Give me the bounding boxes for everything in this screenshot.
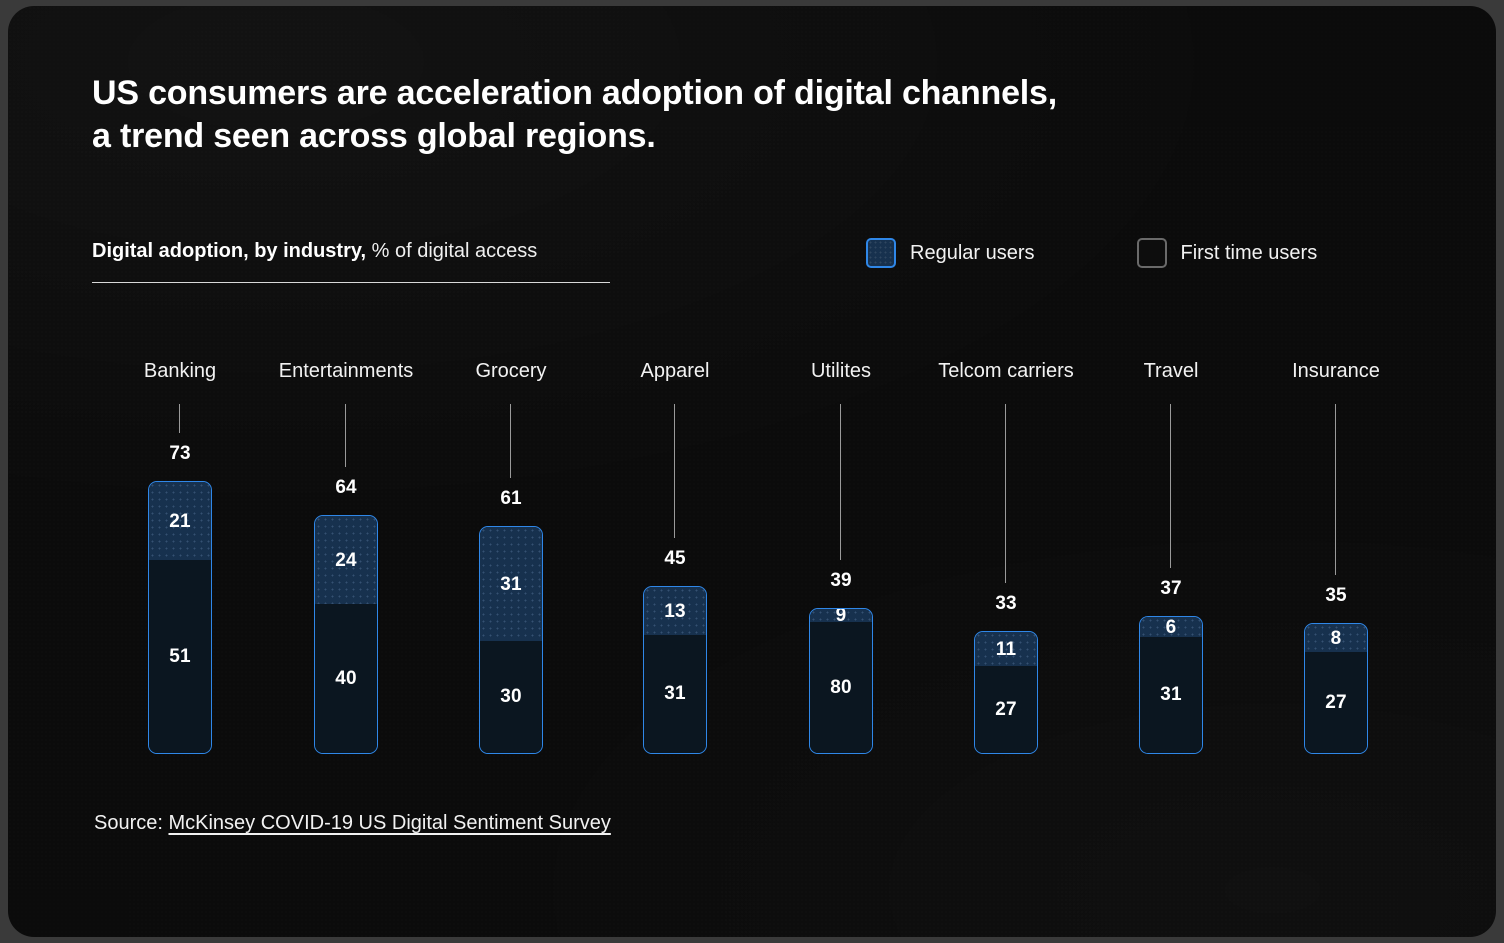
bar-total-label: 45 — [585, 548, 765, 570]
bar-total-label: 33 — [916, 593, 1096, 615]
stacked-bar[interactable]: 2440 — [314, 515, 378, 754]
bar-segment-value: 21 — [169, 511, 191, 533]
bar-segment-regular-users[interactable]: 11 — [975, 632, 1037, 668]
bar-total-label: 64 — [256, 477, 436, 499]
bar-segment-regular-users[interactable]: 6 — [1140, 617, 1202, 639]
legend-label-regular-users: Regular users — [910, 242, 1035, 265]
bar-total-label: 37 — [1081, 578, 1261, 600]
leader-line — [510, 404, 511, 478]
bar-segment-regular-users[interactable]: 13 — [644, 587, 706, 637]
bar-segment-value: 13 — [664, 601, 686, 623]
stacked-bar[interactable]: 631 — [1139, 616, 1203, 754]
bar-segment-regular-users[interactable]: 24 — [315, 516, 377, 606]
bar-total-label: 39 — [751, 570, 931, 592]
bar-segment-value: 27 — [995, 699, 1017, 721]
bar-total-label: 61 — [421, 488, 601, 510]
bar-segment-value: 31 — [500, 574, 522, 596]
bar-segment-value: 40 — [335, 668, 357, 690]
bar-segment-value: 11 — [996, 639, 1017, 661]
bar-segment-first-time-users[interactable]: 40 — [315, 604, 377, 753]
bar-segment-value: 31 — [1160, 684, 1182, 706]
bar-segment-first-time-users[interactable]: 80 — [810, 622, 872, 753]
page-title: US consumers are acceleration adoption o… — [92, 72, 1212, 158]
bar-segment-regular-users[interactable]: 21 — [149, 482, 211, 562]
bar-segment-first-time-users[interactable]: 31 — [1140, 637, 1202, 753]
bar-segment-regular-users[interactable]: 8 — [1305, 624, 1367, 654]
legend-swatch-first-time-icon — [1137, 238, 1167, 268]
stacked-bar[interactable]: 980 — [809, 608, 873, 754]
subtitle-normal: % of digital access — [366, 240, 537, 262]
source-note: Source: McKinsey COVID-19 US Digital Sen… — [94, 812, 611, 835]
source-link[interactable]: McKinsey COVID-19 US Digital Sentiment S… — [168, 812, 610, 834]
bar-segment-first-time-users[interactable]: 31 — [644, 635, 706, 753]
bar-segment-value: 31 — [664, 683, 686, 705]
leader-line — [179, 404, 180, 433]
subtitle-bold: Digital adoption, by industry, — [92, 240, 366, 262]
category-label: Utilites — [751, 360, 931, 383]
category-label: Travel — [1081, 360, 1261, 383]
bar-segment-first-time-users[interactable]: 30 — [480, 641, 542, 753]
bar-segment-value: 80 — [830, 677, 852, 699]
stacked-bar[interactable]: 1127 — [974, 631, 1038, 754]
bar-segment-first-time-users[interactable]: 27 — [1305, 652, 1367, 753]
bar-segment-value: 51 — [169, 646, 191, 668]
bar-segment-value: 24 — [335, 550, 357, 572]
legend-item-first-time-users[interactable]: First time users — [1137, 238, 1318, 268]
legend-item-regular-users[interactable]: Regular users — [866, 238, 1035, 268]
leader-line — [345, 404, 346, 467]
category-label: Telcom carriers — [916, 360, 1096, 383]
bar-segment-value: 30 — [500, 686, 522, 708]
stacked-bar[interactable]: 1331 — [643, 586, 707, 754]
bar-segment-value: 6 — [1166, 617, 1177, 639]
stacked-bar[interactable]: 827 — [1304, 623, 1368, 754]
bar-segment-first-time-users[interactable]: 27 — [975, 666, 1037, 753]
leader-line — [1170, 404, 1171, 568]
leader-line — [674, 404, 675, 538]
bar-segment-value: 27 — [1325, 692, 1347, 714]
leader-line — [840, 404, 841, 560]
category-label: Apparel — [585, 360, 765, 383]
bar-total-label: 35 — [1246, 585, 1426, 607]
chart-legend: Regular users First time users — [866, 238, 1317, 268]
bar-segment-regular-users[interactable]: 31 — [480, 527, 542, 643]
bar-segment-first-time-users[interactable]: 51 — [149, 560, 211, 753]
legend-label-first-time-users: First time users — [1181, 242, 1318, 265]
leader-line — [1335, 404, 1336, 575]
source-prefix: Source: — [94, 812, 168, 834]
category-label: Banking — [90, 360, 270, 383]
category-label: Insurance — [1246, 360, 1426, 383]
legend-swatch-regular-icon — [866, 238, 896, 268]
leader-line — [1005, 404, 1006, 583]
bar-segment-value: 8 — [1331, 628, 1342, 650]
category-label: Entertainments — [256, 360, 436, 383]
stacked-bar[interactable]: 3130 — [479, 526, 543, 754]
stacked-bar[interactable]: 2151 — [148, 481, 212, 754]
bar-total-label: 73 — [90, 443, 270, 465]
chart-subtitle: Digital adoption, by industry, % of digi… — [92, 238, 612, 264]
category-label: Grocery — [421, 360, 601, 383]
chart-card: US consumers are acceleration adoption o… — [8, 6, 1496, 937]
subtitle-divider — [92, 282, 610, 283]
